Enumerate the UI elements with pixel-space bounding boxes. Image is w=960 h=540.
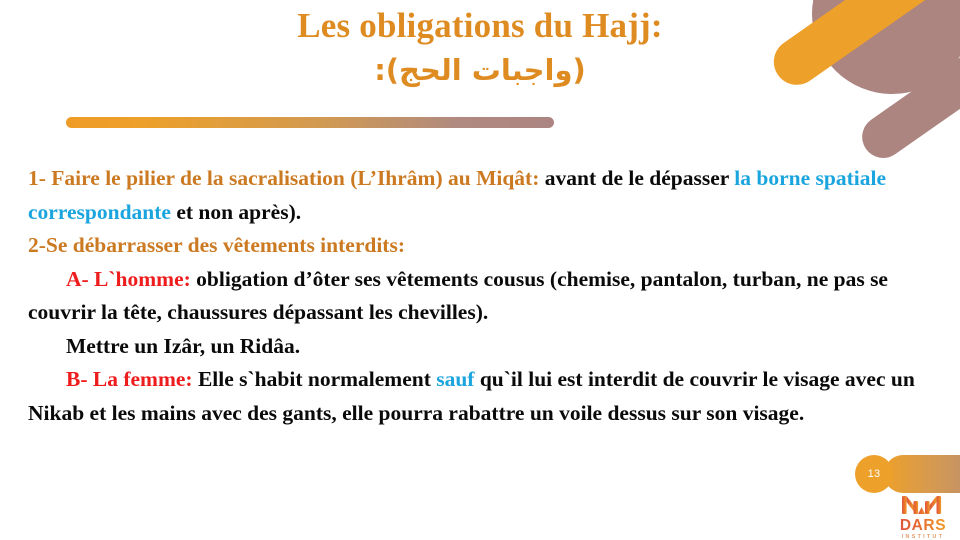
- page-number-badge: 13: [855, 455, 893, 493]
- obligation-item-a: A- L`homme: obligation d’ôter ses vêteme…: [28, 263, 936, 330]
- dars-logo-svg: DARS INSTITUT: [888, 492, 958, 540]
- obligation-b-label: B- La femme:: [66, 367, 193, 391]
- obligation-item-1: 1- Faire le pilier de la sacralisation (…: [28, 162, 936, 229]
- slide-canvas: Les obligations du Hajj: (واجبات الحج): …: [0, 0, 960, 540]
- dars-logo-subtitle: INSTITUT: [902, 534, 945, 540]
- obligation-item-2: 2-Se débarrasser des vêtements interdits…: [28, 229, 936, 263]
- obligation-item-izar: Mettre un Izâr, un Ridâa.: [28, 330, 936, 364]
- obligation-b-text-a: Elle s`habit normalement: [193, 367, 437, 391]
- obligation-a-label: A- L`homme:: [66, 267, 191, 291]
- obligation-2-heading: 2-Se débarrasser des vêtements interdits…: [28, 233, 405, 257]
- dars-m-mark-icon: [902, 496, 941, 514]
- title-divider: [66, 117, 554, 128]
- obligation-1-text-b: et non après).: [171, 200, 301, 224]
- dars-logo-wordmark: DARS: [900, 517, 946, 534]
- obligation-b-text-highlight: sauf: [436, 367, 474, 391]
- obligation-izar-text: Mettre un Izâr, un Ridâa.: [66, 334, 300, 358]
- slide-body: 1- Faire le pilier de la sacralisation (…: [28, 162, 936, 430]
- slide-title-block: Les obligations du Hajj: (واجبات الحج):: [0, 4, 960, 92]
- page-title: Les obligations du Hajj:: [0, 4, 960, 48]
- dars-institut-logo: DARS INSTITUT: [888, 492, 958, 540]
- obligation-item-b: B- La femme: Elle s`habit normalement sa…: [28, 363, 936, 430]
- obligation-1-text-a: avant de le dépasser: [539, 166, 734, 190]
- bottom-gradient-bar-shape: [884, 455, 960, 493]
- page-title-arabic: (واجبات الحج):: [0, 48, 960, 92]
- obligation-1-heading: 1- Faire le pilier de la sacralisation (…: [28, 166, 539, 190]
